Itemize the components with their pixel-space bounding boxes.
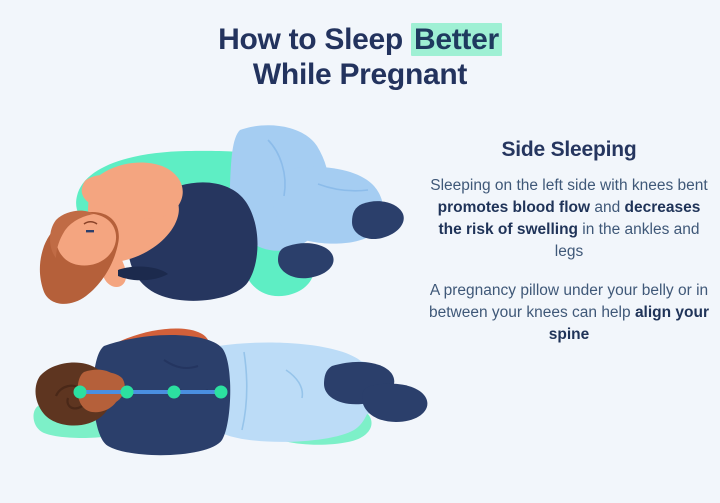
title-highlight-better: Better [411,23,502,56]
spine-dot [121,386,134,399]
sock-foot-lower-bottom [362,384,427,422]
title-line-1: How to Sleep Better [0,22,720,57]
title-text-before: How to Sleep [218,23,411,56]
section-heading: Side Sleeping [425,138,713,162]
title-line-2: While Pregnant [0,57,720,92]
p1-seg2: and [590,199,624,216]
paragraph-side-sleeping: Sleeping on the left side with knees ben… [425,175,713,263]
infographic-canvas: How to Sleep Better While Pregnant [0,0,720,503]
illustration-top-side-sleeping [22,118,422,308]
paragraph-pregnancy-pillow: A pregnancy pillow under your belly or i… [425,280,713,346]
sock-upper-foot [352,201,404,239]
face-eye [86,230,94,232]
bottom-figure-svg [22,300,442,475]
page-title: How to Sleep Better While Pregnant [0,22,720,93]
spine-dot [168,386,181,399]
p1-seg1: Sleeping on the left side with knees ben… [430,177,707,194]
spine-dot [215,386,228,399]
spine-dot [74,386,87,399]
text-column: Side Sleeping Sleeping on the left side … [425,138,713,363]
illustration-bottom-spine-alignment [22,300,442,475]
sock-lower-foot [278,243,334,278]
top-figure-svg [22,118,422,308]
p1-bold-promotes-blood-flow: promotes blood flow [438,199,590,216]
